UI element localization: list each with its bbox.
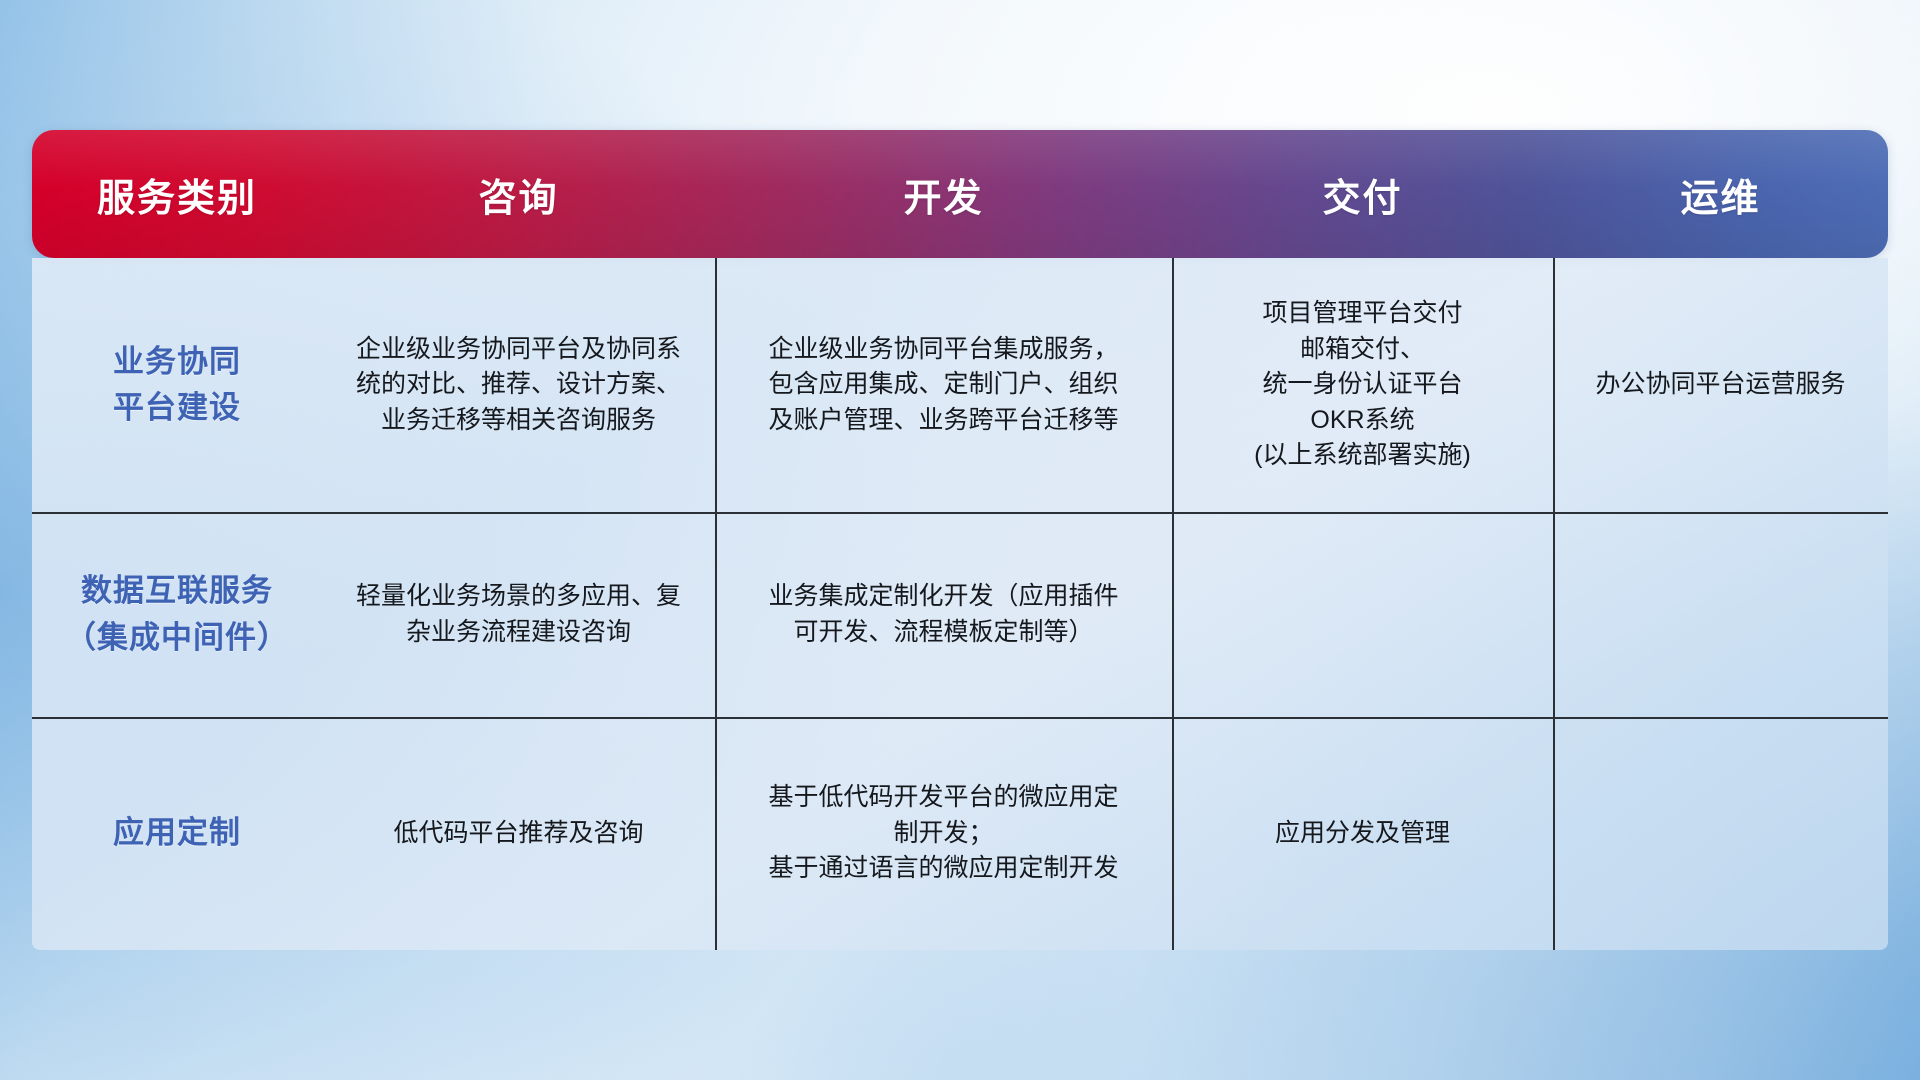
row-category-label: 业务协同 平台建设 — [32, 258, 322, 512]
cell-operations — [1553, 717, 1888, 950]
table-body: 业务协同 平台建设 企业级业务协同平台及协同系 统的对比、推荐、设计方案、 业务… — [32, 258, 1888, 950]
column-header-delivery: 交付 — [1172, 130, 1553, 258]
row-category-label: 数据互联服务 （集成中间件） — [32, 512, 322, 717]
cell-development: 业务集成定制化开发（应用插件 可开发、流程模板定制等） — [715, 512, 1172, 717]
column-header-service-category: 服务类别 — [32, 130, 322, 258]
cell-operations: 办公协同平台运营服务 — [1553, 258, 1888, 512]
cell-delivery: 项目管理平台交付 邮箱交付、 统一身份认证平台 OKR系统 (以上系统部署实施) — [1172, 258, 1553, 512]
column-header-operations: 运维 — [1553, 130, 1888, 258]
column-header-development: 开发 — [715, 130, 1172, 258]
cell-consulting: 企业级业务协同平台及协同系 统的对比、推荐、设计方案、 业务迁移等相关咨询服务 — [322, 258, 715, 512]
cell-operations — [1553, 512, 1888, 717]
cell-consulting: 轻量化业务场景的多应用、复 杂业务流程建设咨询 — [322, 512, 715, 717]
cell-delivery: 应用分发及管理 — [1172, 717, 1553, 950]
cell-development: 企业级业务协同平台集成服务， 包含应用集成、定制门户、组织 及账户管理、业务跨平… — [715, 258, 1172, 512]
slide-canvas: 服务类别 咨询 开发 交付 运维 业务协同 平台建设 企业级业务协同平台及协同系… — [0, 0, 1920, 1080]
cell-development: 基于低代码开发平台的微应用定 制开发； 基于通过语言的微应用定制开发 — [715, 717, 1172, 950]
cell-consulting: 低代码平台推荐及咨询 — [322, 717, 715, 950]
table-row: 应用定制 低代码平台推荐及咨询 基于低代码开发平台的微应用定 制开发； 基于通过… — [32, 717, 1888, 950]
table-row: 数据互联服务 （集成中间件） 轻量化业务场景的多应用、复 杂业务流程建设咨询 业… — [32, 512, 1888, 717]
service-matrix-table: 服务类别 咨询 开发 交付 运维 业务协同 平台建设 企业级业务协同平台及协同系… — [32, 130, 1888, 950]
column-header-consulting: 咨询 — [322, 130, 715, 258]
table-row: 业务协同 平台建设 企业级业务协同平台及协同系 统的对比、推荐、设计方案、 业务… — [32, 258, 1888, 512]
row-category-label: 应用定制 — [32, 717, 322, 950]
table-header-row: 服务类别 咨询 开发 交付 运维 — [32, 130, 1888, 258]
cell-delivery — [1172, 512, 1553, 717]
